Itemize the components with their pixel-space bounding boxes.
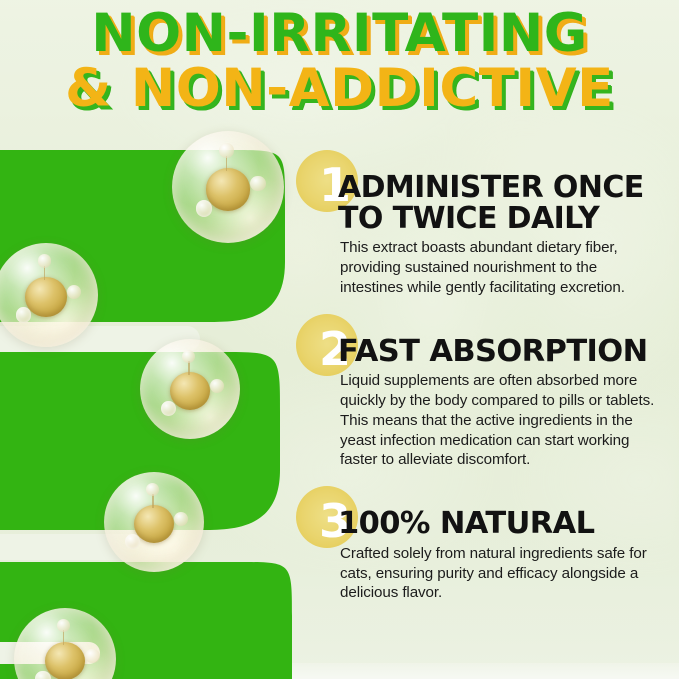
title-line-2: & NON-ADDICTIVE	[0, 63, 679, 115]
benefit-item-2: 2 FAST ABSORPTION Liquid supplements are…	[300, 314, 660, 470]
benefit-heading-2: FAST ABSORPTION	[300, 314, 660, 368]
bubble-droplet-top	[219, 143, 234, 158]
benefit-item-3: 3 100% NATURAL Crafted solely from natur…	[300, 486, 660, 603]
bubble-stem	[152, 494, 154, 508]
poster-root: NON-IRRITATING & NON-ADDICTIVE 1 ADMINIS…	[0, 0, 679, 679]
benefit-list: 1 ADMINISTER ONCE TO TWICE DAILY This ex…	[300, 150, 660, 603]
benefit-heading-1: ADMINISTER ONCE TO TWICE DAILY	[300, 150, 660, 234]
title-line-1: NON-IRRITATING	[0, 8, 679, 60]
bubble-droplet-right	[210, 379, 224, 393]
bubble-stem	[188, 361, 190, 375]
golden-oil-bubble	[104, 472, 204, 572]
benefit-body-1: This extract boasts abundant dietary fib…	[300, 238, 660, 297]
poster-title: NON-IRRITATING & NON-ADDICTIVE	[0, 8, 679, 115]
benefit-body-3: Crafted solely from natural ingredients …	[300, 544, 660, 603]
bubble-droplet-right	[174, 512, 188, 526]
bubble-stem	[226, 156, 228, 172]
bubble-droplet-right	[85, 649, 99, 663]
bubble-stem	[63, 630, 65, 644]
bubble-droplet-top	[146, 483, 159, 496]
golden-oil-bubble	[172, 131, 284, 243]
golden-oil-bubble	[140, 339, 240, 439]
benefit-heading-3: 100% NATURAL	[300, 486, 660, 540]
bubble-droplet-right	[250, 176, 266, 192]
bubble-droplet-top	[182, 350, 195, 363]
bubble-droplet-top	[57, 619, 70, 632]
bubble-droplet-top	[38, 254, 52, 268]
benefit-body-2: Liquid supplements are often absorbed mo…	[300, 371, 660, 470]
benefit-item-1: 1 ADMINISTER ONCE TO TWICE DAILY This ex…	[300, 150, 660, 298]
bubble-stem	[44, 266, 46, 281]
bubble-droplet-right	[67, 285, 82, 300]
